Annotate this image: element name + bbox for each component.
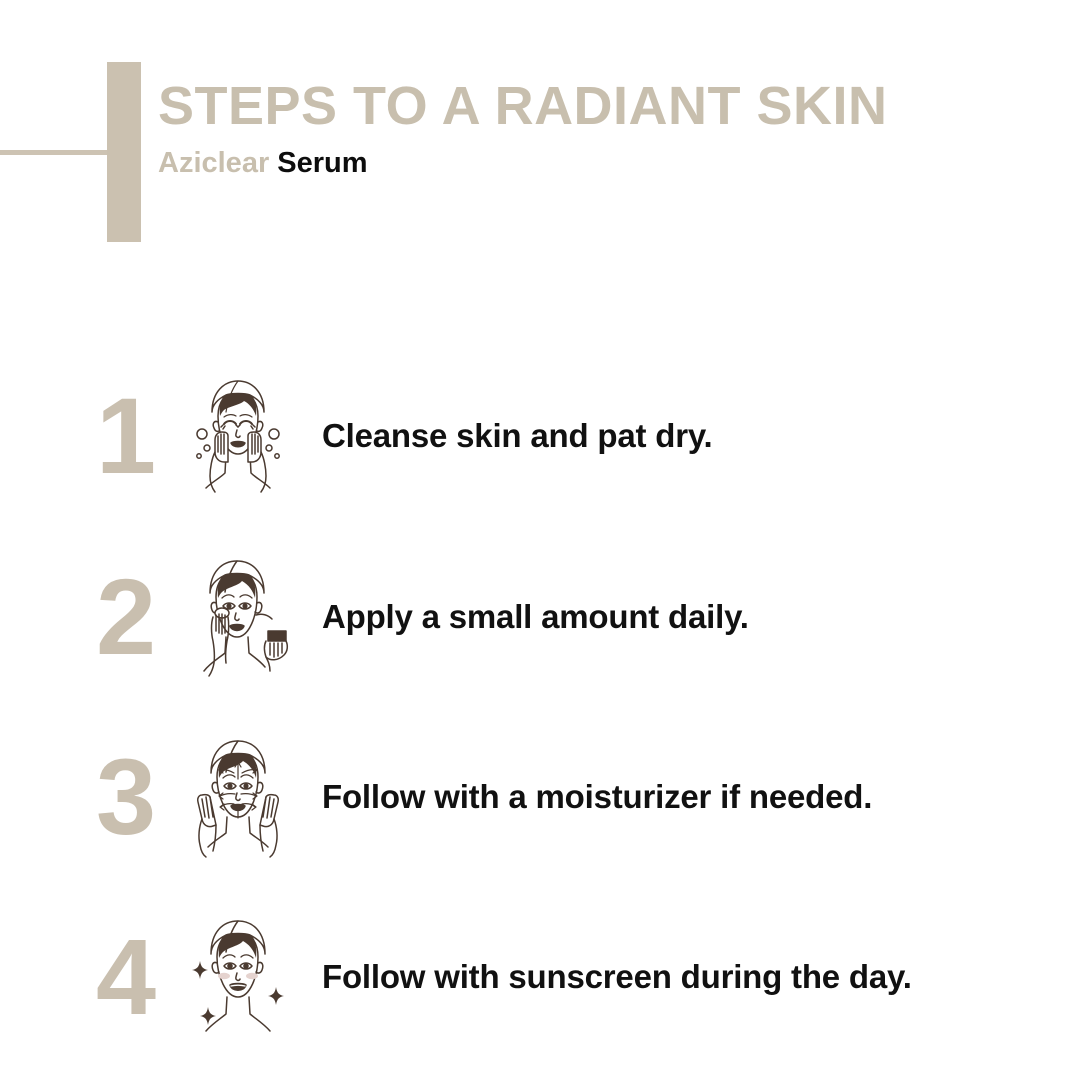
step-description: Follow with sunscreen during the day. xyxy=(322,958,1080,996)
woman-washing-face-icon xyxy=(182,372,294,500)
woman-applying-serum-icon xyxy=(182,553,294,681)
page-title: STEPS TO A RADIANT SKIN xyxy=(158,78,1038,135)
step-number: 3 xyxy=(96,743,174,851)
product-name: Serum xyxy=(277,147,367,179)
list-item: 3 xyxy=(0,707,1080,887)
step-description: Cleanse skin and pat dry. xyxy=(322,417,1080,455)
list-item: 4 xyxy=(0,887,1080,1067)
step-number: 1 xyxy=(96,382,174,490)
header-text-block: STEPS TO A RADIANT SKIN Aziclear Serum xyxy=(158,78,1038,180)
list-item: 1 xyxy=(0,345,1080,527)
list-item: 2 xyxy=(0,527,1080,707)
woman-radiant-face-sparkles-icon xyxy=(182,913,294,1041)
brand-name: Aziclear xyxy=(158,147,269,179)
step-number: 2 xyxy=(96,563,174,671)
woman-massaging-face-icon xyxy=(182,733,294,861)
step-description: Follow with a moisturizer if needed. xyxy=(322,778,1080,816)
step-number: 4 xyxy=(96,923,174,1031)
steps-list: 1 xyxy=(0,345,1080,1067)
infographic-page: STEPS TO A RADIANT SKIN Aziclear Serum 1 xyxy=(0,0,1080,1080)
header-accent-bar xyxy=(107,62,141,242)
step-description: Apply a small amount daily. xyxy=(322,598,1080,636)
page-subtitle: Aziclear Serum xyxy=(158,146,1038,181)
